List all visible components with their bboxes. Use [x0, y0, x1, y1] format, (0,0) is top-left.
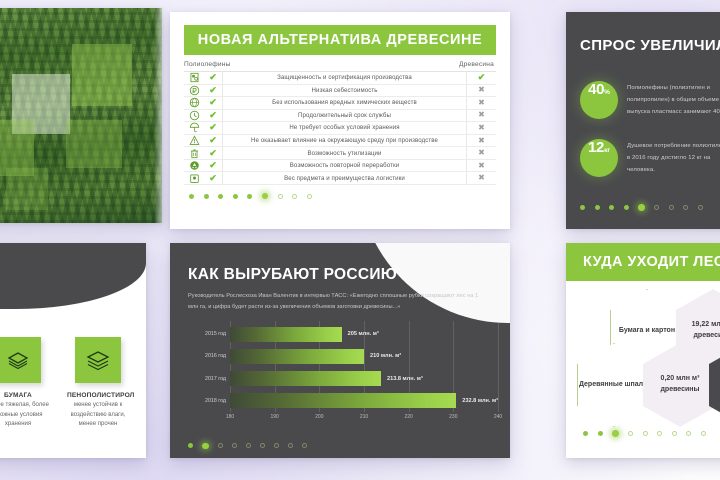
column-header-left: Полиолефины — [184, 61, 231, 68]
page-title: КУДА УХОДИТ ЛЕС — [583, 254, 720, 270]
bar — [230, 327, 342, 342]
material-card[interactable]: БУМАГА более тяжелая, более сложные усло… — [0, 337, 49, 458]
stat-unit: % — [604, 89, 610, 96]
pager-dot[interactable] — [188, 443, 193, 448]
stat-badge: 12кг — [580, 139, 618, 177]
polyolefin-mark: ✔ — [204, 97, 223, 109]
stat-item: 12кг Душевое потребление полиэтилена в 2… — [566, 139, 720, 177]
slide-gallery: НОВАЯ АЛЬТЕРНАТИВА ДРЕВЕСИНЕ Полиолефины… — [0, 0, 720, 480]
slide-pager[interactable] — [188, 443, 307, 450]
pager-dot[interactable] — [189, 194, 194, 199]
bar-category-label: 2015 год — [188, 331, 226, 337]
wood-mark: ✖ — [466, 160, 496, 172]
material-text: более тяжелая, более сложные условия хра… — [0, 401, 49, 430]
feature-label: Не требует особых условий хранения — [223, 124, 466, 131]
feature-label: Без использования вредных химических вещ… — [223, 99, 466, 106]
wood-mark: ✖ — [466, 172, 496, 184]
chart-bar-row: 2016 год210 млн. м³ — [230, 345, 498, 367]
polyolefin-mark: ✔ — [204, 85, 223, 97]
ruble-icon — [184, 85, 204, 96]
page-title: КАК ВЫРУБАЮТ РОССИЮ — [170, 243, 510, 284]
overlay-square — [6, 168, 48, 210]
pager-dot[interactable] — [595, 205, 600, 210]
hex-label: 0,20 млн м³ древесины — [643, 374, 717, 396]
overlay-square — [66, 120, 122, 168]
stat-item: 40% Полиолефины (полиэтилен и полипропил… — [566, 81, 720, 119]
x-tick-label: 240 — [494, 414, 502, 420]
x-tick-label: 180 — [226, 414, 234, 420]
wood-mark: ✖ — [466, 110, 496, 122]
pager-dot[interactable] — [307, 194, 312, 199]
pager-dot[interactable] — [233, 194, 238, 199]
pager-dot[interactable] — [628, 431, 633, 436]
slide-forest-photo[interactable] — [0, 8, 162, 223]
stat-badge: 40% — [580, 81, 618, 119]
page-title: НОВАЯ АЛЬТЕРНАТИВА ДРЕВЕСИНЕ — [198, 32, 482, 48]
slide-comparison-table[interactable]: НОВАЯ АЛЬТЕРНАТИВА ДРЕВЕСИНЕ Полиолефины… — [170, 12, 510, 229]
polyolefin-mark: ✔ — [204, 135, 223, 147]
pager-dot[interactable] — [598, 431, 603, 436]
feature-label: Вес предмета и преимущества логистики — [223, 175, 466, 182]
table-column-headers: Полиолефины Древесина — [170, 55, 510, 71]
pager-dot[interactable] — [246, 443, 251, 448]
globe-icon — [184, 97, 204, 108]
wood-mark: ✖ — [466, 97, 496, 109]
material-card-list: БУМАГА более тяжелая, более сложные усло… — [0, 309, 146, 458]
hex-title-banner: КУДА УХОДИТ ЛЕС — [566, 243, 720, 281]
bar-value-label: 232.8 млн. м³ — [462, 398, 498, 404]
pager-dot[interactable] — [232, 443, 237, 448]
pager-dot[interactable] — [274, 443, 279, 448]
table-row: ✔Возможность повторной переработки✖ — [184, 160, 496, 173]
table-row: ✔Без использования вредных химических ве… — [184, 97, 496, 110]
gridline — [498, 321, 499, 412]
clock-icon — [184, 110, 204, 121]
bar-category-label: 2017 год — [188, 376, 226, 382]
pager-dot[interactable] — [672, 431, 677, 436]
wood-mark: ✔ — [466, 72, 496, 84]
pager-dot[interactable] — [204, 194, 209, 199]
chart-bar-row: 2015 год205 млн. м³ — [230, 323, 498, 345]
certificate-icon — [184, 72, 204, 83]
polyolefin-mark: ✔ — [204, 147, 223, 159]
pager-dot[interactable] — [701, 431, 706, 436]
wood-mark: ✖ — [466, 85, 496, 97]
overlay-square — [72, 44, 132, 106]
slide-demand[interactable]: СПРОС УВЕЛИЧИЛСЯ 40% Полиолефины (полиэт… — [566, 12, 720, 229]
table-row: ✔Не требует особых условий хранения✖ — [184, 122, 496, 135]
x-tick-label: 190 — [270, 414, 278, 420]
chart-bars: 2015 год205 млн. м³2016 год210 млн. м³20… — [230, 323, 498, 412]
bar — [230, 371, 381, 386]
hex-label: Бумага и картон — [619, 326, 675, 337]
material-title: ПЕНОПОЛИСТИРОЛ — [67, 392, 129, 399]
pager-dot[interactable] — [643, 431, 648, 436]
polyolefin-mark: ✔ — [204, 160, 223, 172]
table-body: ✔Защищенность и сертификация производств… — [184, 71, 496, 185]
slide-pager[interactable] — [566, 177, 720, 211]
pager-dot[interactable] — [302, 443, 307, 448]
x-tick-label: 200 — [315, 414, 323, 420]
stat-value: 12 — [588, 139, 604, 156]
wood-mark: ✖ — [466, 135, 496, 147]
pager-dot[interactable] — [218, 443, 223, 448]
material-title: БУМАГА — [0, 392, 49, 399]
chart-bar-row: 2017 год213.8 млн. м³ — [230, 368, 498, 390]
pager-dot[interactable] — [292, 194, 297, 199]
stat-text: Полиолефины (полиэтилен и полипропилен) … — [627, 82, 720, 118]
table-row: ✔Вес предмета и преимущества логистики✖ — [184, 172, 496, 185]
polyolefin-mark: ✔ — [204, 172, 223, 184]
pager-dot[interactable] — [262, 193, 269, 200]
feature-label: Защищенность и сертификация производства — [223, 74, 466, 81]
slide-pager[interactable] — [170, 185, 510, 200]
dark-header-shape — [0, 243, 146, 309]
bar-value-label: 205 млн. м³ — [348, 331, 379, 337]
material-text: менее устойчив к воздействию влаги, мене… — [67, 401, 129, 430]
pager-dot[interactable] — [202, 443, 209, 450]
recycle-icon — [184, 160, 204, 171]
x-tick-label: 210 — [360, 414, 368, 420]
feature-label: Возможность повторной переработки — [223, 162, 466, 169]
pager-dot[interactable] — [218, 194, 223, 199]
wood-mark: ✖ — [466, 147, 496, 159]
bar-category-label: 2016 год — [188, 353, 226, 359]
hex-grid: Бумага и картон 19,22 млн м³ древесины Д… — [566, 281, 720, 421]
card-edge-highlight — [154, 8, 162, 223]
stat-value: 40 — [588, 81, 604, 98]
bar-category-label: 2018 год — [188, 398, 226, 404]
wood-mark: ✖ — [466, 122, 496, 134]
pager-dot[interactable] — [278, 194, 283, 199]
feature-label: Продолжительный срок службы — [223, 112, 466, 119]
bar-value-label: 213.8 млн. м³ — [387, 376, 423, 382]
table-title-banner: НОВАЯ АЛЬТЕРНАТИВА ДРЕВЕСИНЕ — [184, 25, 496, 55]
x-tick-label: 220 — [404, 414, 412, 420]
pager-dot[interactable] — [698, 205, 703, 210]
table-row: ✔Возможность утилизации✖ — [184, 147, 496, 160]
table-row: ✔Продолжительный срок службы✖ — [184, 110, 496, 123]
feature-label: Низкая себестоимость — [223, 87, 466, 94]
slide-pager[interactable] — [566, 421, 720, 437]
bar-value-label: 210 млн. м³ — [370, 353, 401, 359]
feature-label: Не оказывает влияние на окружающую среду… — [223, 137, 466, 144]
stat-unit: кг — [604, 147, 610, 154]
polyolefin-mark: ✔ — [204, 72, 223, 84]
polyolefin-mark: ✔ — [204, 110, 223, 122]
pager-dot[interactable] — [669, 205, 674, 210]
table-row: ✔Не оказывает влияние на окружающую сред… — [184, 135, 496, 148]
stat-text: Душевое потребление полиэтилена в 2016 г… — [627, 140, 720, 176]
bar — [230, 349, 364, 364]
pager-dot[interactable] — [657, 431, 662, 436]
pager-dot[interactable] — [583, 431, 588, 436]
slide-wood-usage[interactable]: КУДА УХОДИТ ЛЕС Бумага и картон 19,22 мл… — [566, 243, 720, 458]
trash-icon — [184, 148, 204, 159]
hex-label: 19,22 млн м³ древесины — [676, 320, 720, 342]
polyolefin-mark: ✔ — [204, 122, 223, 134]
pager-dot[interactable] — [686, 431, 691, 436]
umbrella-icon — [184, 122, 204, 133]
pager-dot[interactable] — [683, 205, 688, 210]
page-title: СПРОС УВЕЛИЧИЛСЯ — [566, 12, 720, 54]
pager-dot[interactable] — [612, 430, 619, 437]
feature-label: Возможность утилизации — [223, 150, 466, 157]
chart-plot-area: 2015 год205 млн. м³2016 год210 млн. м³20… — [188, 321, 498, 426]
bar — [230, 393, 456, 408]
pager-dot[interactable] — [580, 205, 585, 210]
chart-bar-row: 2018 год232.8 млн. м³ — [230, 390, 498, 412]
table-row: ✔Защищенность и сертификация производств… — [184, 72, 496, 85]
pager-dot[interactable] — [654, 205, 659, 210]
pager-dot[interactable] — [609, 205, 614, 210]
table-row: ✔Низкая себестоимость✖ — [184, 85, 496, 98]
pager-dot[interactable] — [288, 443, 293, 448]
chart-subtitle: Руководитель Рослесхоза Иван Валентик в … — [170, 284, 510, 313]
pager-dot[interactable] — [260, 443, 265, 448]
layers-icon — [75, 337, 121, 383]
weight-icon — [184, 173, 204, 184]
pager-dot[interactable] — [247, 194, 252, 199]
column-header-right: Древесина — [459, 61, 494, 68]
warning-icon — [184, 135, 204, 146]
material-card[interactable]: ПЕНОПОЛИСТИРОЛ менее устойчив к воздейст… — [67, 337, 129, 458]
x-tick-label: 230 — [449, 414, 457, 420]
slide-materials[interactable]: БУМАГА более тяжелая, более сложные усло… — [0, 243, 146, 458]
paper-stack-icon — [0, 337, 41, 383]
pager-dot[interactable] — [638, 204, 645, 211]
pager-dot[interactable] — [624, 205, 629, 210]
chart-x-axis: 180190200210220230240 — [230, 414, 498, 426]
hex-label: Деревянные шпалы — [579, 380, 649, 391]
slide-deforestation-chart[interactable]: КАК ВЫРУБАЮТ РОССИЮ Руководитель Рослесх… — [170, 243, 510, 458]
